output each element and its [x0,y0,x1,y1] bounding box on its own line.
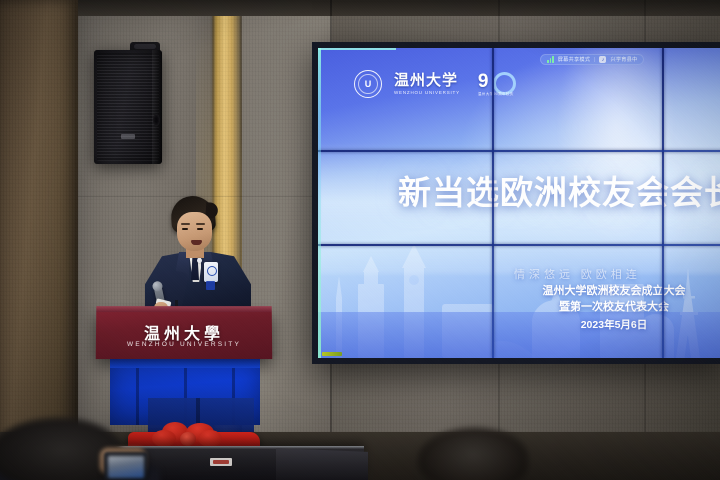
signal-bars-icon [547,56,554,63]
lectern-rib [136,368,139,425]
anniversary-mark: 9 温州大学90周年校庆 [478,71,512,97]
table-name-card [210,458,232,466]
screen-logo-group: U 温州大学 WENZHOU UNIVERSITY 9 温州大学90周年校庆 [354,70,512,98]
eye-right [197,228,203,230]
screen-highlight [556,48,676,248]
eyebrow-left [181,223,190,225]
speaker-port [153,114,160,126]
screen-main-title: 新当选欧洲校友会会长讲 [398,166,720,214]
face [177,212,212,251]
anniversary-subtitle: 温州大学90周年校庆 [478,92,514,97]
lapel-badge [204,262,218,282]
panel-edge-glow [318,48,321,358]
university-name-cn: 温州大学 [394,73,460,88]
screen-calligraphy-text: 情深悠远 欧欧相连 [514,266,641,282]
panel-edge-top-glow [318,48,396,50]
subtitle-line-2: 暨第一次校友代表大会 [514,300,714,316]
share-mode-label: 屏幕共享模式 [558,56,590,63]
speaker-person [140,196,256,322]
screen-subtitle-block: 温州大学欧洲校友会成立大会 暨第一次校友代表大会 2023年5月6日 [514,284,714,333]
status-led-indicator [322,352,342,356]
ribbon-center-knot [180,432,196,446]
eyebrow-right [196,223,205,225]
speaker-side-panel [152,50,162,164]
ribbon-loop [152,430,176,447]
screen-share-status-pill: 屏幕共享模式 | ♪ 兴学育县中 [540,54,644,65]
smartphone-screen [108,456,144,478]
lapel-pin [197,258,202,263]
panel-seam-vertical [492,48,494,358]
university-seal-icon: U [354,70,382,98]
audio-status-label: 兴学育县中 [610,56,637,63]
status-separator: | [594,57,595,63]
badge-ribbon [206,281,215,290]
led-video-wall: U 温州大学 WENZHOU UNIVERSITY 9 温州大学90周年校庆 屏… [312,42,720,364]
subtitle-date: 2023年5月6日 [514,318,714,333]
photo-scene: U 温州大学 WENZHOU UNIVERSITY 9 温州大学90周年校庆 屏… [0,0,720,480]
seal-glyph: U [365,80,372,89]
panel-seam-horizontal [318,244,720,246]
foreground-table-side [276,448,368,480]
university-name-en: WENZHOU UNIVERSITY [394,91,460,96]
speaker-icon: ♪ [599,56,606,63]
lectern-name-en: WENZHOU UNIVERSITY [96,341,272,348]
lectern-front-panel: 温州大學 WENZHOU UNIVERSITY [96,311,273,359]
panel-seam-horizontal [318,150,720,152]
pa-speaker [94,50,162,164]
mouth [191,240,202,245]
speaker-brand-logo [121,134,135,139]
anniversary-digit: 9 [478,72,489,91]
video-wall-content: U 温州大学 WENZHOU UNIVERSITY 9 温州大学90周年校庆 屏… [318,48,720,358]
panel-seam-vertical [662,48,664,358]
speaker-grille [97,53,159,161]
ceiling-edge [78,0,720,16]
subtitle-line-1: 温州大学欧洲校友会成立大会 [514,284,714,300]
ribbon-loop [198,430,222,447]
eye-left [182,228,188,230]
university-wordmark: 温州大学 WENZHOU UNIVERSITY [394,73,460,96]
